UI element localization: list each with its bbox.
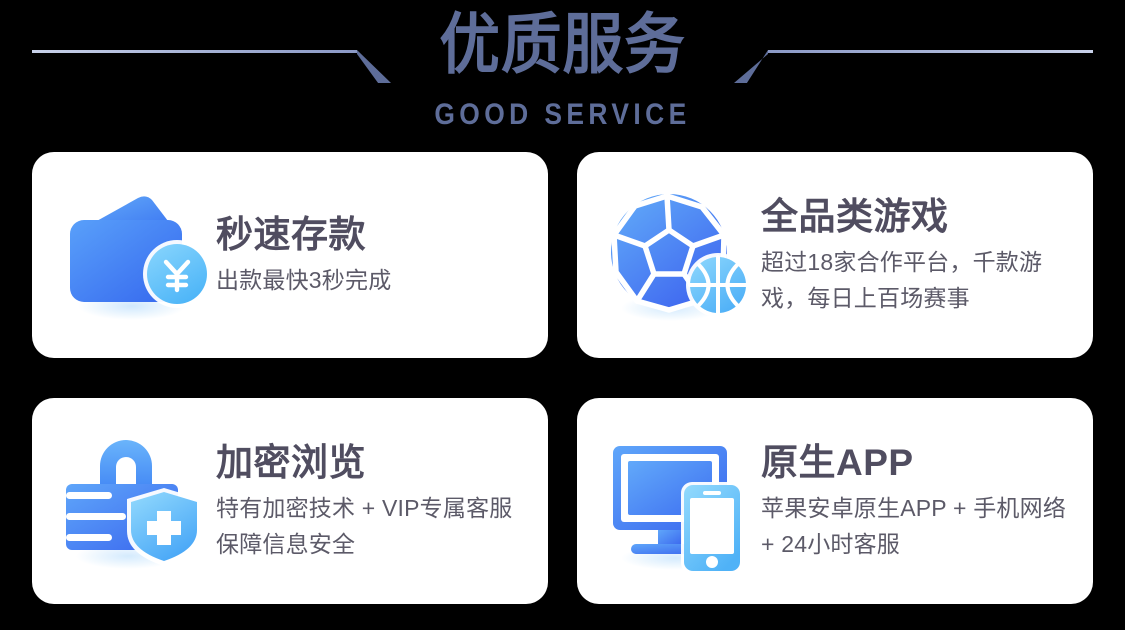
card-text-block: 原生APP 苹果安卓原生APP + 手机网络 + 24小时客服 — [757, 440, 1075, 562]
card-text-block: 加密浏览 特有加密技术 + VIP专属客服保障信息安全 — [212, 440, 530, 562]
card-description: 出款最快3秒完成 — [216, 262, 530, 298]
card-description: 特有加密技术 + VIP专属客服保障信息安全 — [216, 490, 530, 562]
card-text-block: 全品类游戏 超过18家合作平台，千款游戏，每日上百场赛事 — [757, 194, 1075, 316]
promo-page: 优质服务 GOOD SERVICE — [0, 0, 1125, 630]
soccer-basketball-icon — [605, 180, 757, 330]
page-subtitle: GOOD SERVICE — [68, 98, 1058, 132]
feature-card-games[interactable]: 全品类游戏 超过18家合作平台，千款游戏，每日上百场赛事 — [577, 152, 1093, 358]
card-description: 苹果安卓原生APP + 手机网络 + 24小时客服 — [761, 490, 1075, 562]
feature-card-deposit[interactable]: 秒速存款 出款最快3秒完成 — [32, 152, 548, 358]
page-title: 优质服务 — [45, 6, 1080, 82]
wallet-yen-icon — [60, 180, 212, 330]
card-title: 原生APP — [761, 440, 1075, 486]
page-header: 优质服务 GOOD SERVICE — [0, 0, 1125, 142]
card-description: 超过18家合作平台，千款游戏，每日上百场赛事 — [761, 244, 1075, 316]
card-title: 秒速存款 — [216, 212, 530, 258]
card-text-block: 秒速存款 出款最快3秒完成 — [212, 212, 530, 298]
lock-shield-icon — [60, 426, 212, 576]
card-title: 全品类游戏 — [761, 194, 1075, 240]
feature-card-native-app[interactable]: 原生APP 苹果安卓原生APP + 手机网络 + 24小时客服 — [577, 398, 1093, 604]
feature-card-encryption[interactable]: 加密浏览 特有加密技术 + VIP专属客服保障信息安全 — [32, 398, 548, 604]
feature-card-grid: 秒速存款 出款最快3秒完成 — [32, 152, 1093, 604]
card-title: 加密浏览 — [216, 440, 530, 486]
monitor-phone-icon — [605, 426, 757, 576]
